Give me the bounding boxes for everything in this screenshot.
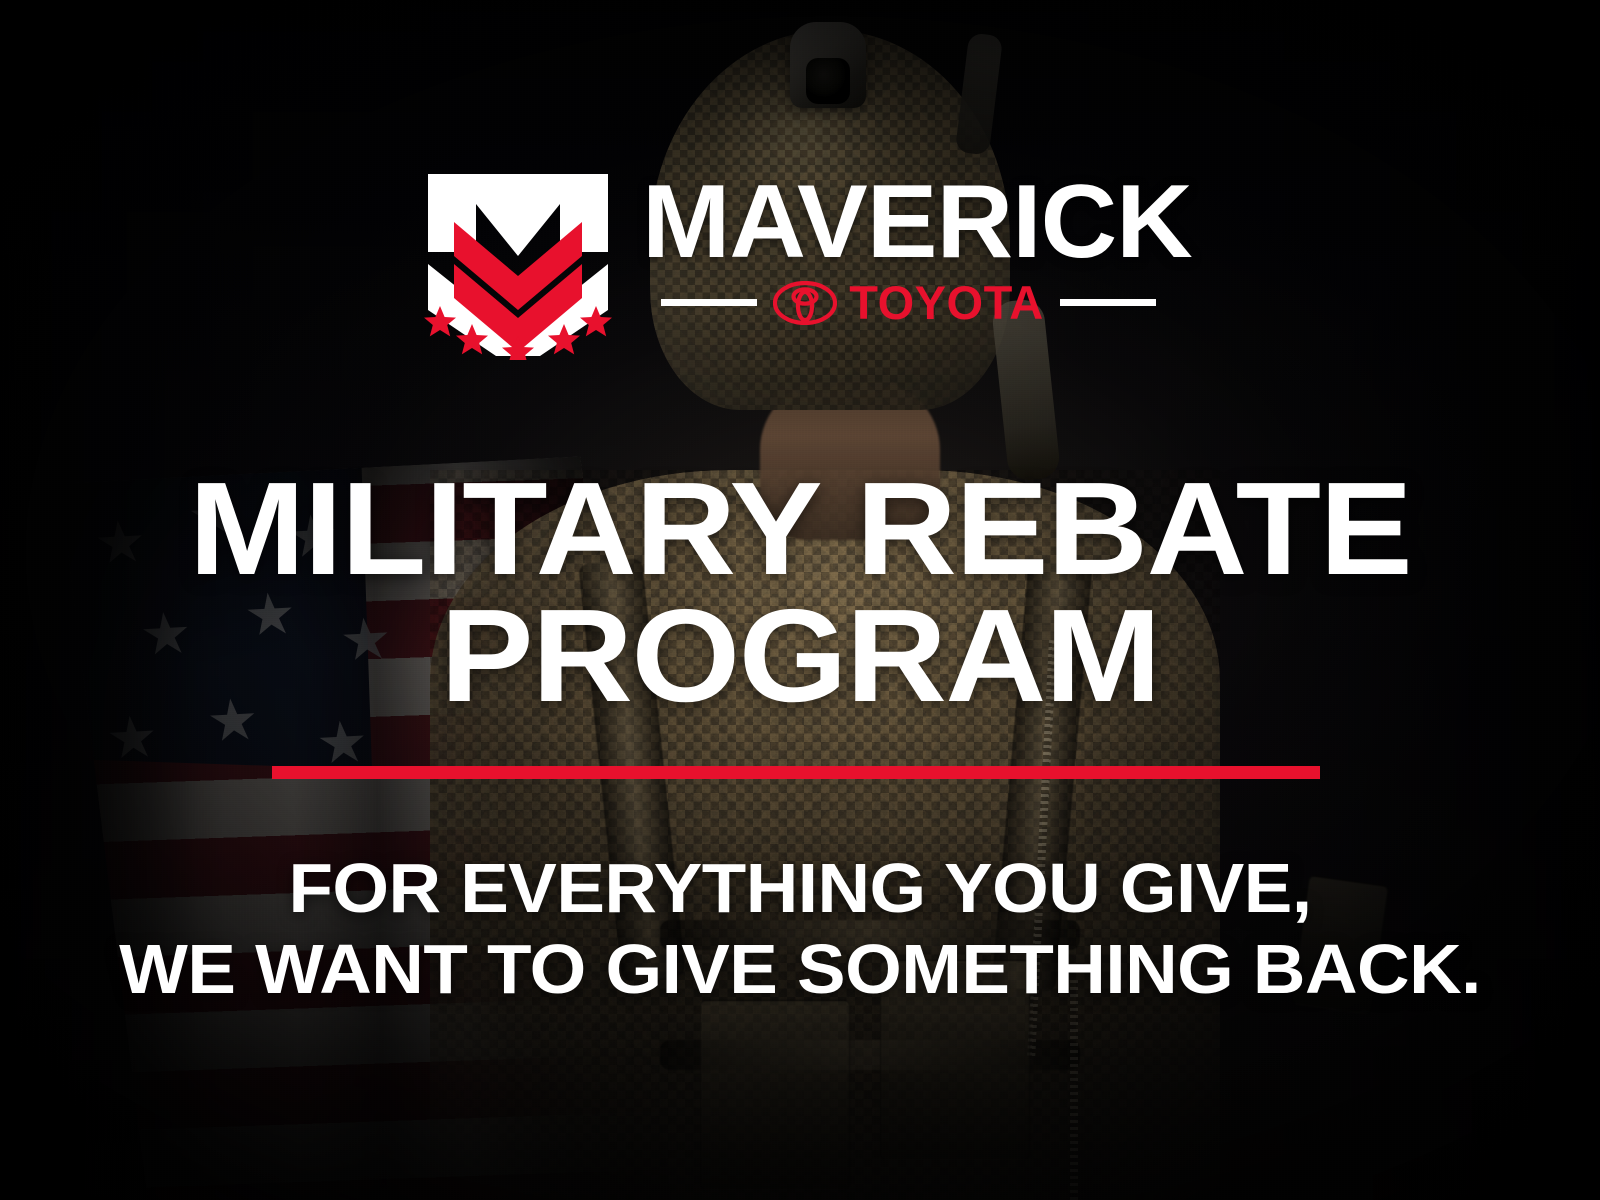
toyota-sub-lockup: TOYOTA <box>642 279 1176 326</box>
headline-line-2: PROGRAM <box>0 593 1600 720</box>
page-title: MILITARY REBATE PROGRAM <box>0 466 1600 719</box>
military-chevron-shield-icon <box>420 160 616 360</box>
red-divider-bar <box>272 766 1320 779</box>
brand-wordmark: MAVERICK <box>642 178 1192 267</box>
poster-canvas: MAVERICK TOYOTA <box>0 0 1600 1200</box>
toyota-wordmark: TOYOTA <box>849 279 1044 326</box>
subtitle-line-1: FOR EVERYTHING YOU GIVE, <box>288 849 1311 927</box>
wordmark-block: MAVERICK TOYOTA <box>642 160 1181 326</box>
headline-line-1: MILITARY REBATE <box>189 455 1411 602</box>
brand-lockup: MAVERICK TOYOTA <box>0 160 1600 360</box>
page-subtitle: FOR EVERYTHING YOU GIVE, WE WANT TO GIVE… <box>0 848 1600 1010</box>
toyota-ellipse-logo-icon <box>773 281 837 325</box>
lockup-rule-left <box>661 299 757 306</box>
poster-content: MAVERICK TOYOTA <box>0 0 1600 1200</box>
subtitle-line-2: WE WANT TO GIVE SOMETHING BACK. <box>0 929 1600 1010</box>
toyota-brand-mark: TOYOTA <box>773 279 1044 326</box>
lockup-rule-right <box>1060 299 1156 306</box>
